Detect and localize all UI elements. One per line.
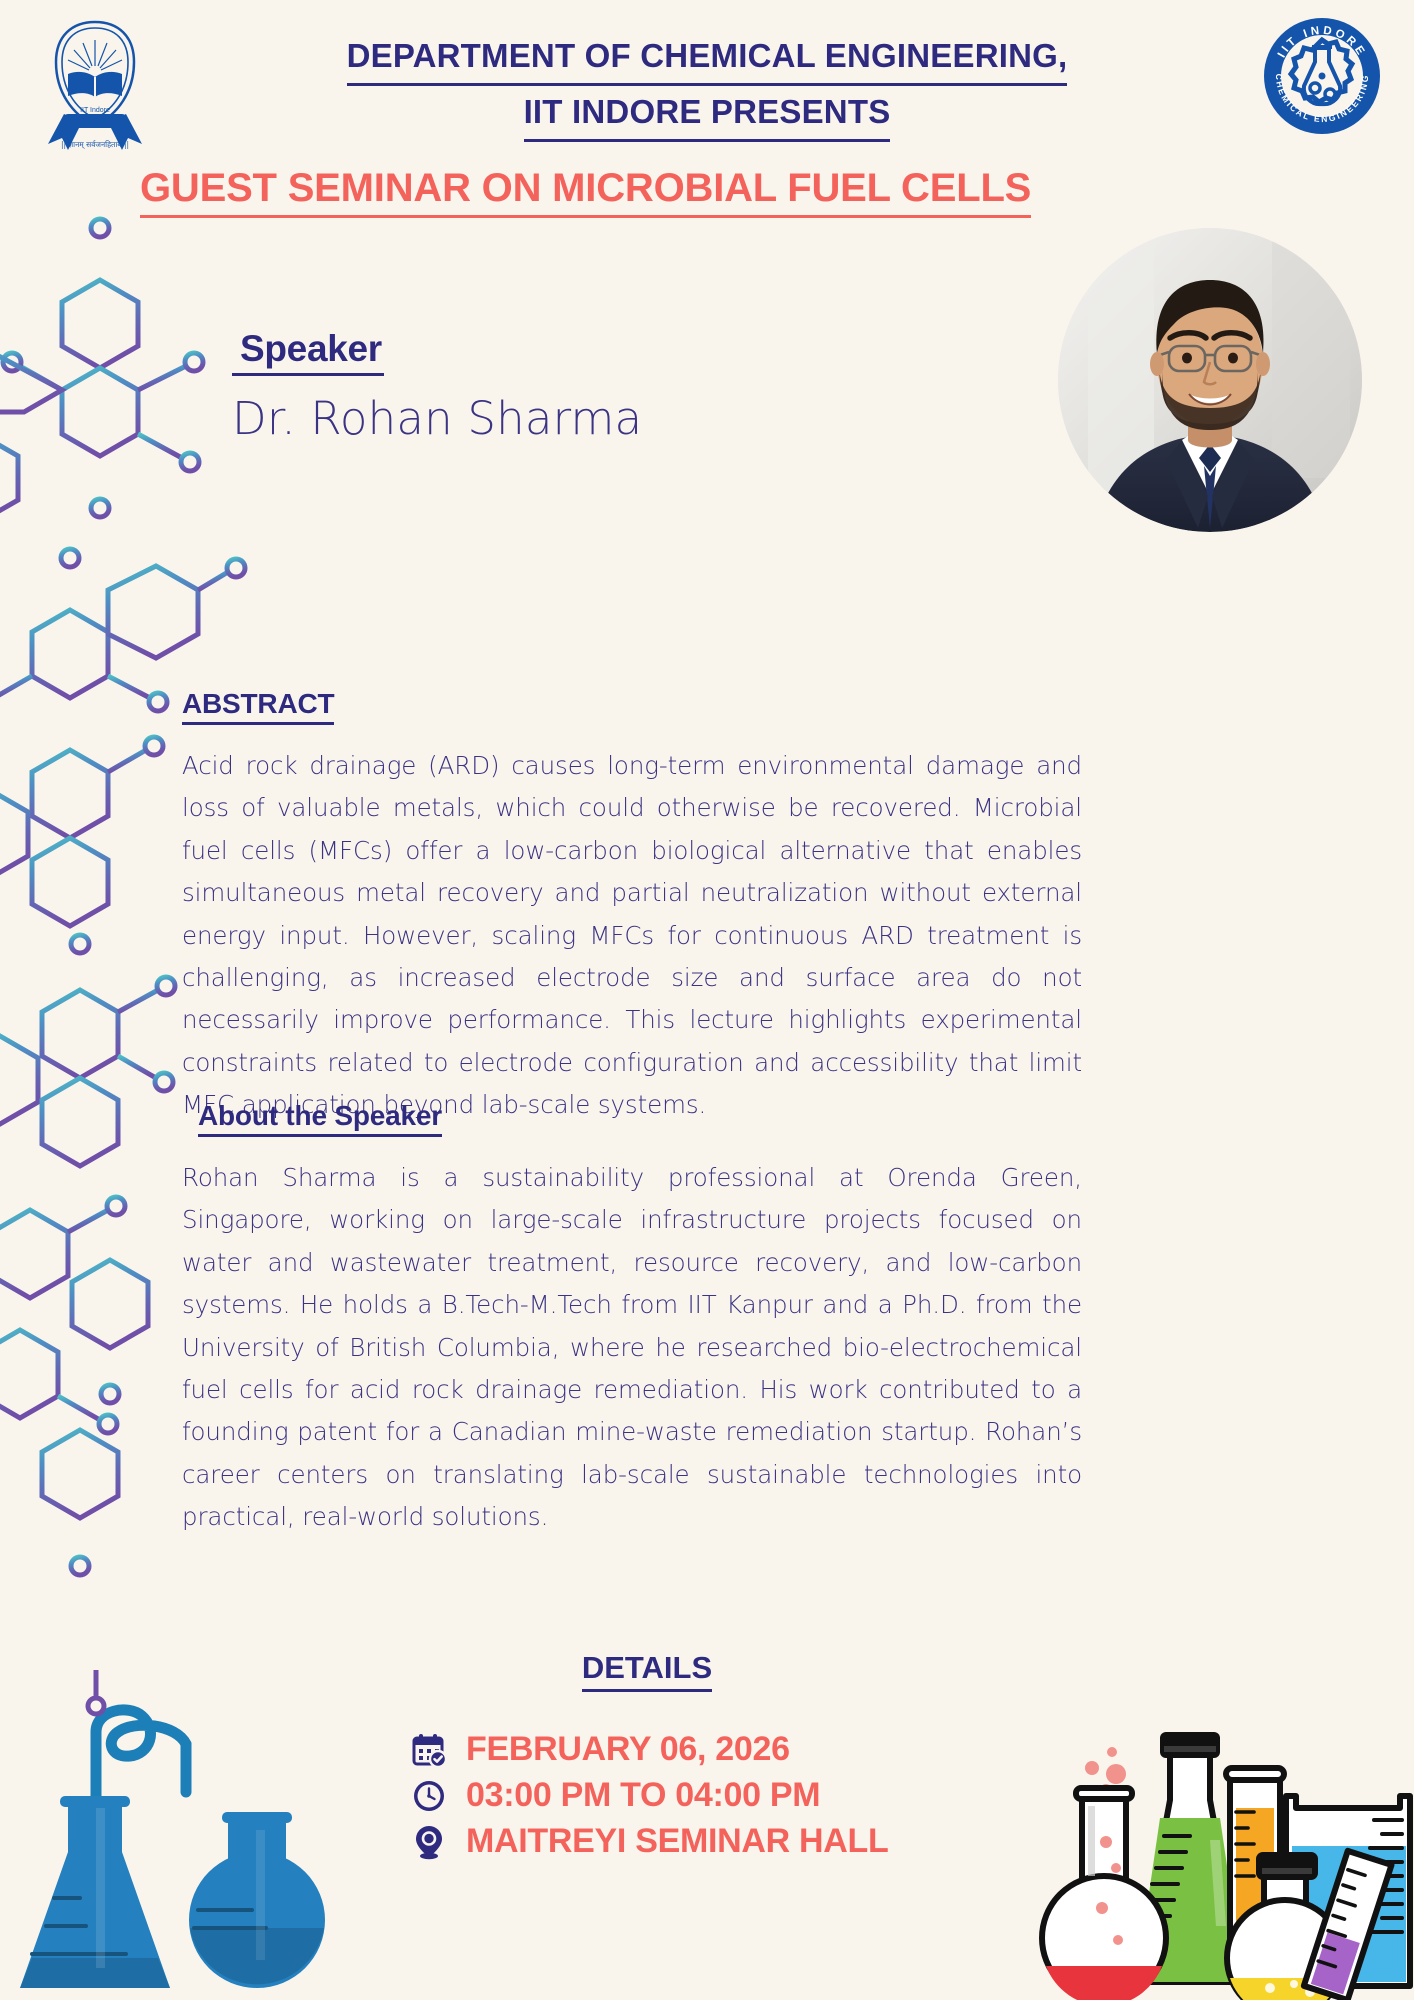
abstract-body: Acid rock drainage (ARD) causes long-ter… [182,745,1082,1126]
details-list: FEBRUARY 06, 2026 03:00 PM TO 04:00 PM [410,1730,1414,1861]
detail-venue-text: MAITREYI SEMINAR HALL [466,1822,888,1861]
chemical-engineering-seal-logo: IIT INDORE CHEMICAL ENGINEERING [1260,14,1384,138]
speaker-name: Dr. Rohan Sharma [232,392,642,445]
detail-row-time: 03:00 PM TO 04:00 PM [410,1776,1414,1815]
abstract-heading: ABSTRACT [182,688,334,725]
detail-row-venue: MAITREYI SEMINAR HALL [410,1822,1414,1861]
page-title-text: GUEST SEMINAR ON MICROBIAL FUEL CELLS [140,166,1031,218]
detail-row-date: FEBRUARY 06, 2026 [410,1730,1414,1769]
details-heading: DETAILS [582,1650,712,1692]
iit-indore-crest-logo: IIT Indore || ज्ञानम् सर्वजनहिताय || [34,18,156,150]
about-speaker-heading: About the Speaker [198,1100,442,1137]
about-speaker-body: Rohan Sharma is a sustainability profess… [182,1157,1082,1538]
seminar-poster: IIT Indore || ज्ञानम् सर्वजनहिताय || [0,0,1414,2000]
detail-date-text: FEBRUARY 06, 2026 [466,1730,790,1769]
about-speaker-section: About the Speaker Rohan Sharma is a sust… [198,1100,1082,1538]
page-title: GUEST SEMINAR ON MICROBIAL FUEL CELLS [140,166,1250,218]
iit-crest-motto: || ज्ञानम् सर्वजनहिताय || [61,140,129,149]
poster-header: IIT Indore || ज्ञानम् सर्वजनहिताय || [0,0,1414,160]
department-header-title: DEPARTMENT OF CHEMICAL ENGINEERING, IIT … [210,30,1204,142]
header-line-2: IIT INDORE PRESENTS [524,86,891,142]
calendar-icon [410,1731,448,1769]
header-line-1: DEPARTMENT OF CHEMICAL ENGINEERING, [347,30,1068,86]
location-pin-icon [410,1823,448,1861]
iit-crest-caption: IIT Indore [80,107,110,114]
detail-time-text: 03:00 PM TO 04:00 PM [466,1776,820,1815]
clock-icon [410,1777,448,1815]
abstract-section: ABSTRACT Acid rock drainage (ARD) causes… [182,688,1082,1126]
speaker-block: Speaker Dr. Rohan Sharma [232,328,642,445]
speaker-photo [1058,228,1362,532]
details-section: DETAILS [0,1650,1414,1861]
speaker-label: Speaker [232,328,384,376]
